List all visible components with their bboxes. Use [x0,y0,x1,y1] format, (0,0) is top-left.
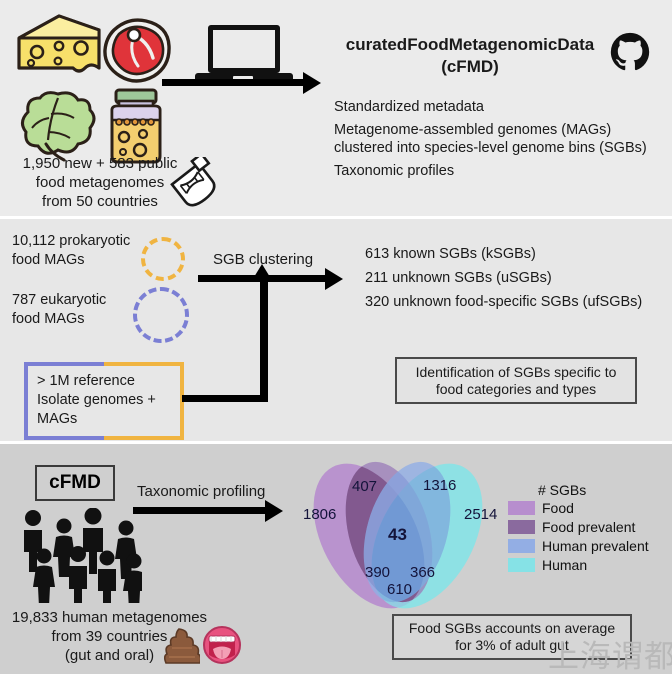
db-title-line1: curatedFoodMetagenomicData [330,36,610,54]
taxonomic-profiling-arrow [133,507,268,514]
legend-item-food-prevalent: Food prevalent [508,519,635,535]
legend-swatch-food [508,501,535,515]
dna-test-tube-icon [163,157,225,213]
legend-label-food: Food [542,500,574,516]
legend-item-food: Food [508,500,574,516]
eukaryotic-circle-icon [133,287,189,343]
legend-label-human: Human [542,557,587,573]
prokaryotic-circle-icon [141,237,185,281]
sgb-clustering-arrow-head [325,268,343,290]
eukaryotic-mags-label: 787 eukaryotic food MAGs [12,291,106,328]
sgb-identification-callout: Identification of SGBs specific to food … [395,357,637,404]
result-usgbs: 211 unknown SGBs (uSGBs) [365,270,552,288]
result-ufsgbs: 320 unknown food-specific SGBs (ufSGBs) [365,294,642,312]
prokaryotic-mags-label: 10,112 prokaryotic food MAGs [12,232,130,269]
legend-title: # SGBs [538,482,586,498]
taxonomic-profiling-arrow-head [265,500,283,522]
legend-item-human-prevalent: Human prevalent [508,538,649,554]
venn-value-1316: 1316 [423,477,456,494]
db-bullet-1: Standardized metadata [334,99,484,117]
legend-label-food-prevalent: Food prevalent [542,519,635,535]
github-icon[interactable] [610,32,650,72]
legend-swatch-food-prevalent [508,520,535,534]
db-bullet-2: Metagenome-assembled genomes (MAGs) clus… [334,121,647,157]
db-title-line2: (cFMD) [330,58,610,76]
venn-value-1806: 1806 [303,506,336,523]
cheese-icon [13,12,105,80]
sgb-clustering-label: SGB clustering [213,251,313,269]
reference-genomes-label: > 1M reference Isolate genomes + MAGs [37,372,156,429]
result-ksgbs: 613 known SGBs (kSGBs) [365,246,536,264]
venn-value-2514: 2514 [464,506,497,523]
legend-swatch-human [508,558,535,572]
legend-swatch-human-prevalent [508,539,535,553]
panel-divider-2 [0,441,672,444]
laptop-icon [208,25,280,73]
poop-emoji-icon [164,627,200,665]
people-group-icon [20,508,142,603]
elbow-arrow-vertical [260,280,268,398]
venn-value-43: 43 [388,525,407,545]
db-bullet-3: Taxonomic profiles [334,163,454,181]
legend-item-human: Human [508,557,587,573]
legend-label-human-prevalent: Human prevalent [542,538,649,554]
sgb-clustering-arrow [198,275,328,282]
food-sgb-gut-callout: Food SGBs accounts on average for 3% of … [392,614,632,660]
figure-canvas: 1,950 new + 583 public food metagenomes … [0,0,672,674]
panel-divider-1 [0,216,672,219]
arrow-to-database [162,79,306,86]
cfmd-box: cFMD [35,465,115,501]
arrow-to-database-head [303,72,321,94]
taxonomic-profiling-label: Taxonomic profiling [137,483,265,501]
steak-icon [98,14,174,84]
lettuce-icon [16,88,100,164]
venn-value-366: 366 [410,564,435,581]
elbow-arrow-horizontal [182,395,268,402]
venn-value-610: 610 [387,581,412,598]
venn-value-390: 390 [365,564,390,581]
mouth-emoji-icon [202,625,242,665]
venn-value-407: 407 [352,478,377,495]
